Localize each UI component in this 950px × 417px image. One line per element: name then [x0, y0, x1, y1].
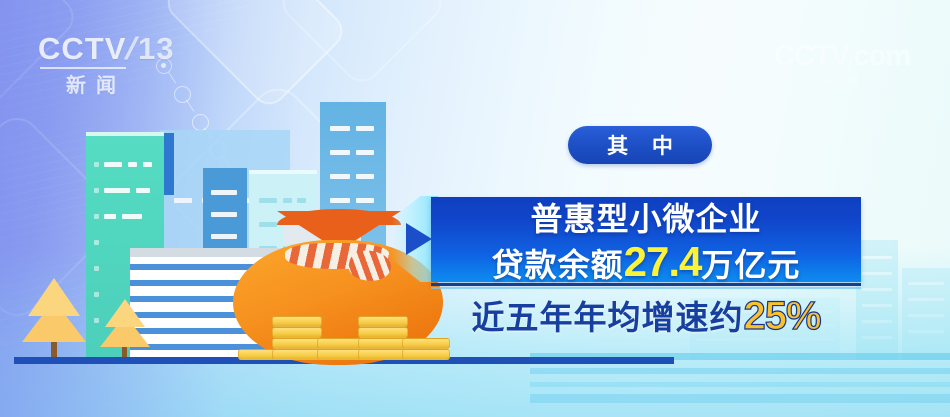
- broadcast-graphic: CCTV/13 新闻 CCTV.com 央视网 其 中 普惠型小微企业 贷款余额…: [0, 0, 950, 417]
- tagline-value: 25%: [743, 294, 820, 338]
- arrow-right-icon: [406, 223, 432, 255]
- coin: [272, 349, 322, 360]
- coin: [402, 349, 450, 360]
- coin-stack-5: [402, 336, 450, 360]
- banner-line-1: 普惠型小微企业: [431, 203, 861, 235]
- logo-text: CCTV/13: [38, 33, 178, 64]
- coin: [272, 316, 322, 327]
- coin: [358, 327, 408, 338]
- tree-large: [22, 268, 86, 360]
- coin: [402, 338, 450, 349]
- coin: [358, 338, 408, 349]
- watermark-main-text: CCTV.com: [774, 42, 910, 71]
- tree-small: [100, 294, 150, 360]
- tagline-prefix: 近五年年均增速约: [471, 299, 743, 336]
- cctv-com-watermark: CCTV.com 央视网: [774, 42, 910, 87]
- coin: [358, 349, 408, 360]
- banner-underline-secondary: [431, 287, 861, 289]
- logo-cctv-text: CCTV: [38, 31, 126, 66]
- coin: [358, 316, 408, 327]
- coin: [272, 338, 322, 349]
- qizhong-badge: 其 中: [568, 126, 712, 164]
- banner-value-unit: 万亿元: [701, 247, 800, 283]
- coin-stack-2: [272, 314, 322, 360]
- logo-channel-number: 13: [138, 31, 174, 66]
- banner-line-1-text: 普惠型小微企业: [530, 201, 761, 237]
- coin: [272, 327, 322, 338]
- tagline: 近五年年均增速约25%: [431, 296, 861, 336]
- coin-stack-4: [358, 314, 408, 360]
- qizhong-badge-label: 其 中: [598, 130, 682, 160]
- cctv-13-logo: CCTV/13 新闻: [38, 33, 178, 95]
- banner-line-2-prefix: 贷款余额: [492, 247, 624, 283]
- logo-channel-name: 新闻: [66, 69, 126, 98]
- watermark-sub-text: 央视网: [774, 72, 910, 87]
- banner-line-2: 贷款余额27.4万亿元: [431, 241, 861, 283]
- banner-value: 27.4: [624, 238, 702, 285]
